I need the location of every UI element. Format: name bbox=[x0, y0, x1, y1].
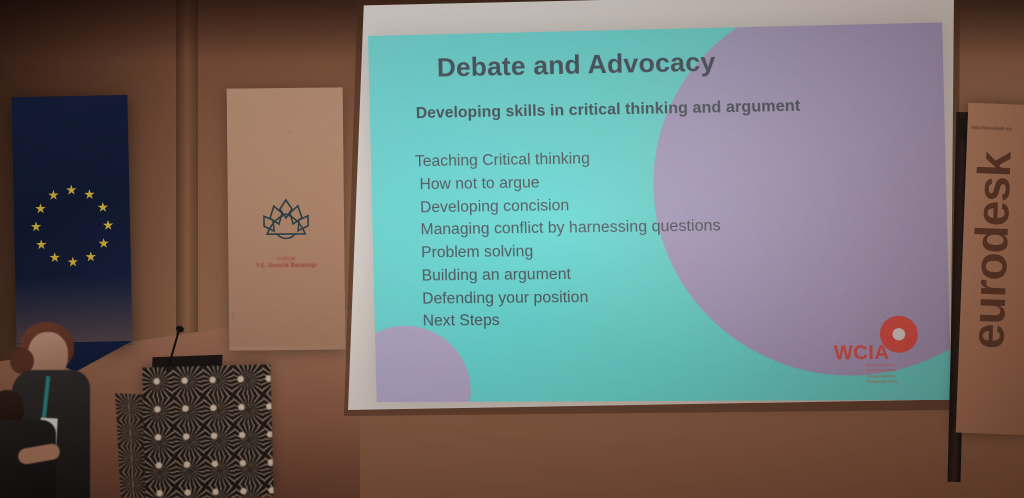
list-item: Problem solving bbox=[417, 239, 722, 266]
banner-motif-bottom-icon bbox=[230, 259, 345, 350]
wcia-logo: WCIA Welsh Centre for International Affa… bbox=[833, 315, 925, 383]
lectern bbox=[142, 364, 273, 498]
conference-room-photo: KURUM T.C. Genclik Bakanligi Debate and … bbox=[0, 0, 1024, 498]
wcia-wordmark: WCIA bbox=[834, 343, 890, 366]
eurodesk-wordmark: eurodesk bbox=[960, 151, 1022, 349]
slide-bullet-list: Teaching Critical thinking How not to ar… bbox=[415, 146, 723, 334]
eu-stars-icon bbox=[28, 182, 116, 270]
slide-decor-circle-small bbox=[368, 325, 472, 402]
list-item: Defending your position bbox=[418, 285, 723, 311]
list-item: Managing conflict by harnessing question… bbox=[416, 216, 721, 243]
banner-motif-top-icon bbox=[228, 87, 345, 134]
eu-flag-banner bbox=[11, 95, 132, 347]
projected-slide: Debate and Advocacy Developing skills in… bbox=[368, 22, 951, 402]
emblem-banner: KURUM T.C. Genclik Bakanligi bbox=[227, 87, 346, 350]
list-item: Building an argument bbox=[417, 262, 722, 288]
lotus-emblem-icon bbox=[255, 196, 318, 249]
slide-title: Debate and Advocacy bbox=[437, 46, 716, 83]
eurodesk-url: http://eurodesk.eu bbox=[971, 125, 1024, 133]
list-item: Next Steps bbox=[419, 308, 724, 333]
wcia-strapline: Welsh Centre for International Affairs C… bbox=[866, 363, 926, 385]
emblem-caption: KURUM T.C. Genclik Bakanligi bbox=[228, 255, 344, 270]
attendee bbox=[0, 390, 54, 498]
eurodesk-banner: http://eurodesk.eu eurodesk bbox=[956, 103, 1024, 436]
